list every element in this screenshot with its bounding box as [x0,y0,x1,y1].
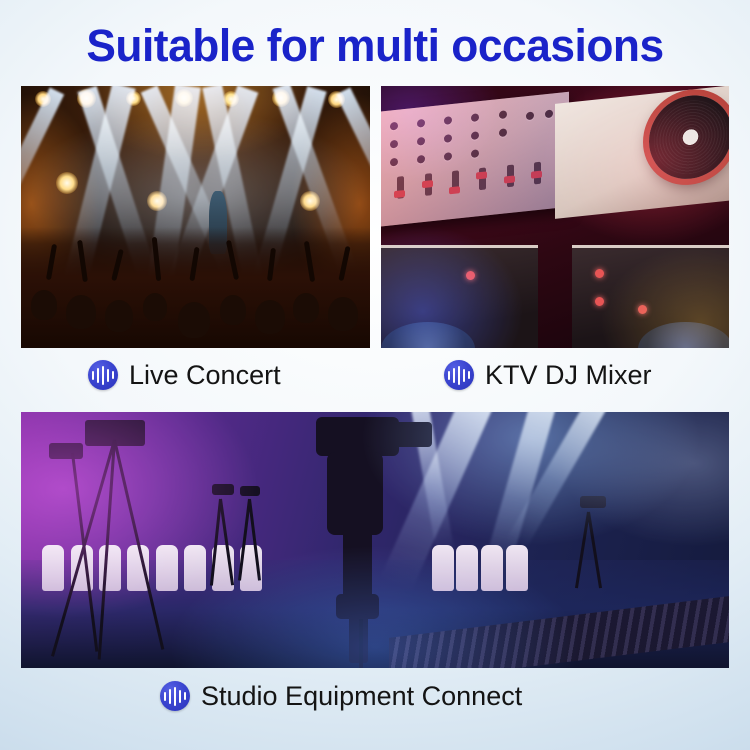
image-studio-equipment [21,412,729,668]
caption-studio-equipment-connect: Studio Equipment Connect [160,681,522,711]
dj-lighting-glow [381,86,729,348]
caption-label: Studio Equipment Connect [201,683,522,710]
image-ktv-dj-mixer [381,86,729,348]
audio-waveform-icon [444,360,474,390]
studio-lighting-glow [21,412,729,668]
concert-crowd [21,227,370,348]
audio-waveform-icon [160,681,190,711]
caption-ktv-dj-mixer: KTV DJ Mixer [444,360,652,390]
caption-live-concert: Live Concert [88,360,281,390]
page-title: Suitable for multi occasions [6,20,745,72]
caption-label: Live Concert [129,362,281,389]
promo-page: Suitable for multi occasions [0,0,750,750]
image-live-concert [21,86,370,348]
audio-waveform-icon [88,360,118,390]
caption-label: KTV DJ Mixer [485,362,652,389]
